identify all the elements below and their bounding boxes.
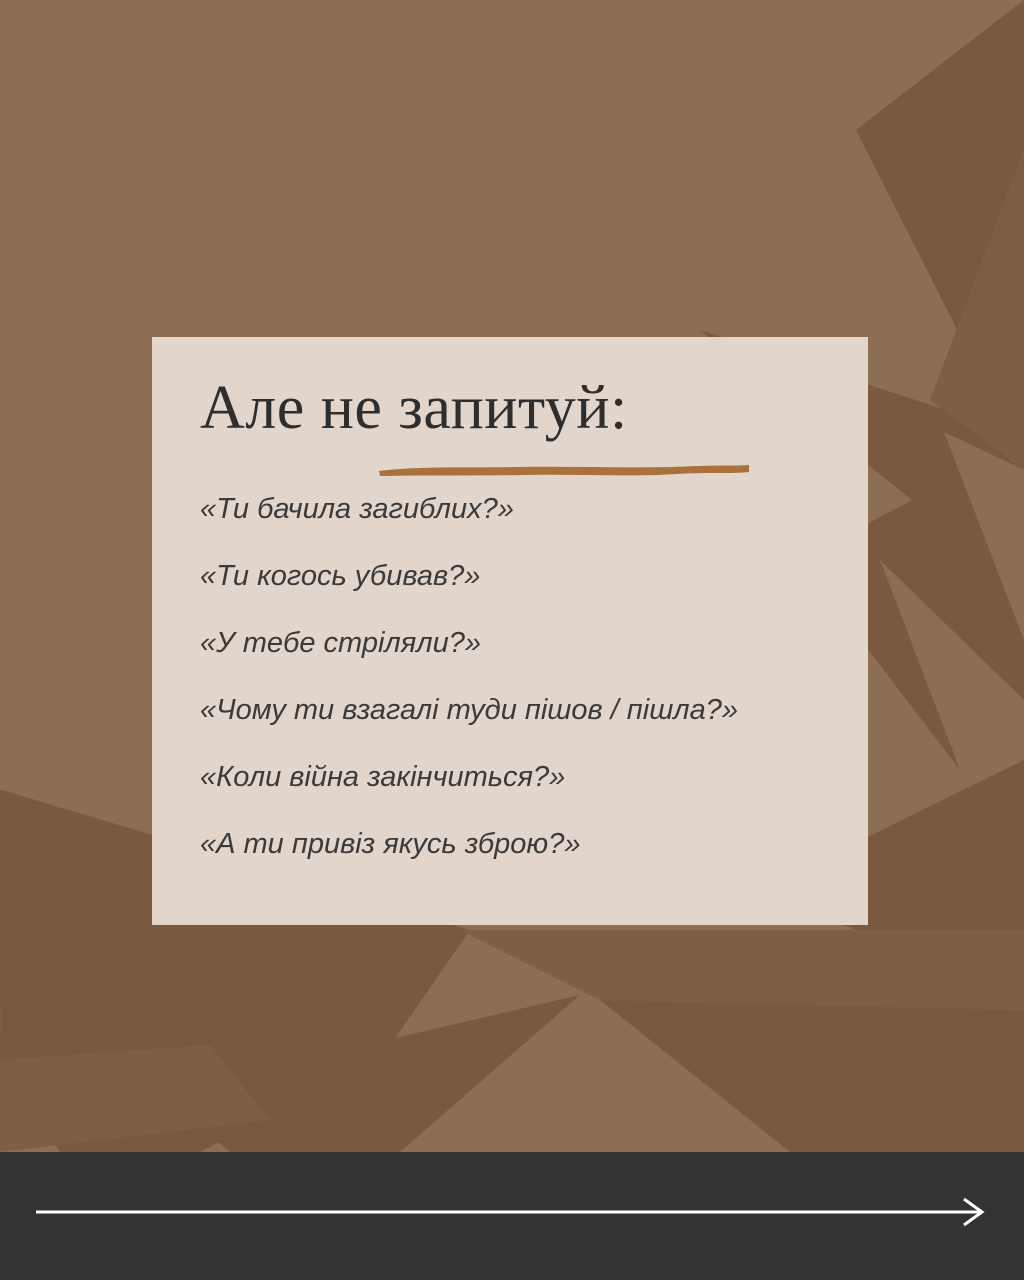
title-wrapper: Але не запитуй: [200, 377, 628, 439]
slide-canvas: Але не запитуй: «Ти бачила загиблих?» «Т… [0, 0, 1024, 1280]
list-item: «Ти когось убивав?» [200, 562, 824, 591]
list-item: «А ти привіз якусь зброю?» [200, 830, 824, 859]
underline-path [379, 465, 749, 476]
list-item: «Чому ти взагалі туди пішов / пішла?» [200, 696, 824, 725]
question-list: «Ти бачила загиблих?» «Ти когось убивав?… [196, 495, 824, 859]
list-item: «Коли війна закінчиться?» [200, 763, 824, 792]
next-arrow-icon[interactable] [36, 1192, 988, 1232]
title-underline-brush-stroke [378, 463, 750, 477]
list-item: «Ти бачила загиблих?» [200, 495, 824, 524]
page-title: Але не запитуй: [200, 377, 628, 439]
footer-bar [0, 1152, 1024, 1280]
content-card: Але не запитуй: «Ти бачила загиблих?» «Т… [152, 337, 868, 925]
list-item: «У тебе стріляли?» [200, 629, 824, 658]
